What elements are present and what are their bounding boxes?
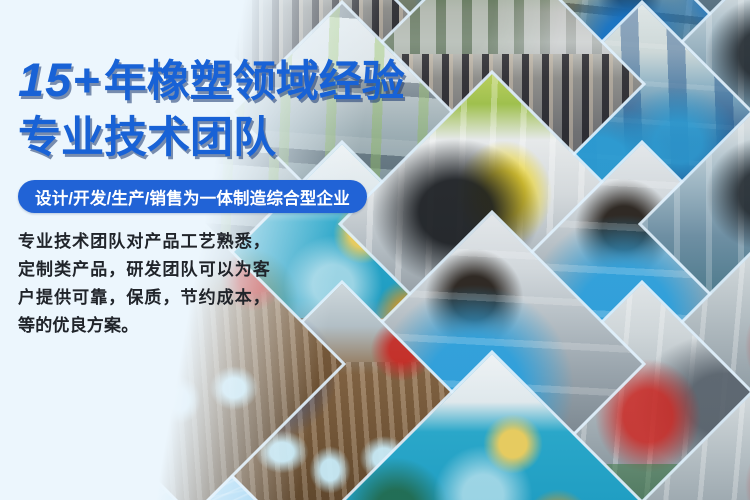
headline-line1-rest: 年橡塑领域经验	[104, 58, 405, 106]
photo-tile-injection-press	[492, 0, 750, 164]
status-badge: 设计/开发/生产/销售为一体制造综合型企业	[18, 180, 367, 213]
photo-tile-testing-machine-right	[642, 214, 750, 500]
photo-testing-machine	[492, 284, 750, 500]
headline-number: 15+	[18, 53, 104, 106]
company-capability-banner: 15+年橡塑领域经验 专业技术团队 设计/开发/生产/销售为一体制造综合型企业 …	[0, 0, 750, 500]
status-badge-label: 设计/开发/生产/销售为一体制造综合型企业	[35, 185, 350, 209]
photo-testing-machine-right	[642, 214, 750, 500]
photo-tile-testing-machine	[492, 284, 750, 500]
body-description: 专业技术团队对产品工艺熟悉，定制类产品，研发团队可以为客户提供可靠，保质，节约成…	[18, 228, 270, 340]
photo-testing-machine-bottom	[642, 354, 750, 500]
photo-operator-machine	[492, 144, 750, 444]
headline-line2: 专业技术团队	[18, 110, 405, 166]
photo-tile-qc-microscope	[642, 0, 750, 234]
photo-tile-warehouse-racks	[642, 0, 750, 94]
photo-tile-operator-machine	[492, 144, 750, 444]
photo-tile-inspection-line	[492, 4, 750, 304]
page-title: 15+年橡塑领域经验 专业技术团队	[18, 52, 405, 166]
headline-copy-block: 15+年橡塑领域经验 专业技术团队 设计/开发/生产/销售为一体制造综合型企业 …	[0, 0, 430, 500]
photo-warehouse-racks	[642, 0, 750, 94]
photo-tile-qc-right	[642, 74, 750, 374]
photo-qc-microscope	[642, 0, 750, 234]
photo-qc-microscope-right	[642, 74, 750, 374]
photo-injection-press	[492, 0, 750, 164]
photo-tile-machine-bottom	[642, 354, 750, 500]
photo-inspection-line	[492, 4, 750, 304]
